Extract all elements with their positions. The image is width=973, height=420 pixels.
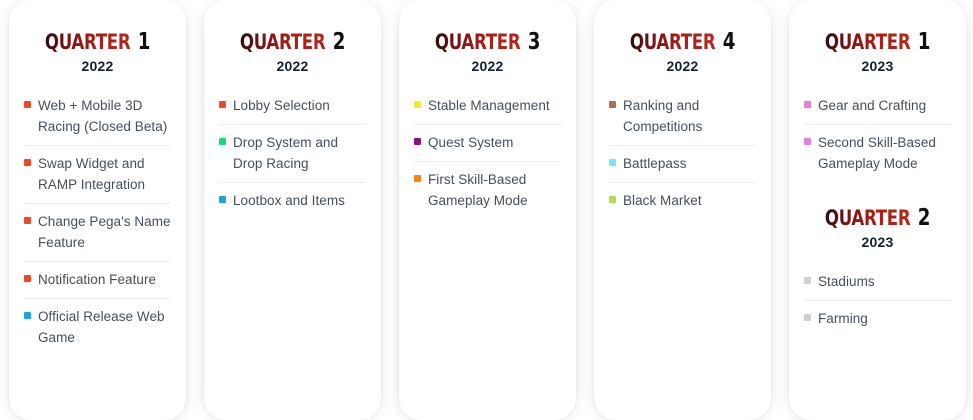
quarter-header: QUARTER 32022 [414,30,561,74]
bullet-square-icon [804,101,811,108]
quarter-section: QUARTER 32022Stable ManagementQuest Syst… [414,30,561,219]
feature-item: Change Pega's Name Feature [24,204,171,262]
bullet-square-icon [219,101,226,108]
bullet-square-icon [804,314,811,321]
quarter-header: QUARTER 42022 [609,30,756,74]
roadmap-column: QUARTER 12022Web + Mobile 3D Racing (Clo… [0,0,195,420]
quarter-section: QUARTER 22023StadiumsFarming [804,206,951,337]
feature-list: StadiumsFarming [804,264,951,337]
feature-label: Ranking and Competitions [623,95,756,137]
quarter-year: 2022 [414,58,561,74]
roadmap-column: QUARTER 42022Ranking and CompetitionsBat… [585,0,780,420]
quarter-title: QUARTER 1 [33,30,162,54]
feature-item: First Skill-Based Gameplay Mode [414,162,561,219]
quarter-number: 1 [918,29,930,55]
feature-item: Drop System and Drop Racing [219,125,366,183]
bullet-square-icon [24,312,31,319]
roadmap-board: QUARTER 12022Web + Mobile 3D Racing (Clo… [0,0,973,420]
feature-item: Official Release Web Game [24,299,171,356]
feature-item: Ranking and Competitions [609,88,756,146]
quarter-title: QUARTER 2 [813,206,942,230]
quarter-section: QUARTER 12023Gear and CraftingSecond Ski… [804,30,951,182]
feature-list: Web + Mobile 3D Racing (Closed Beta)Swap… [24,88,171,356]
feature-label: Gear and Crafting [818,95,926,116]
feature-label: Drop System and Drop Racing [233,132,366,174]
bullet-square-icon [414,138,421,145]
quarter-header: QUARTER 12023 [804,30,951,74]
quarter-section: QUARTER 42022Ranking and CompetitionsBat… [609,30,756,219]
quarter-number: 2 [333,29,345,55]
quarter-title: QUARTER 2 [228,30,357,54]
bullet-square-icon [804,277,811,284]
quarter-year: 2022 [609,58,756,74]
feature-label: Stadiums [818,271,875,292]
quarter-header: QUARTER 22023 [804,206,951,250]
feature-list: Lobby SelectionDrop System and Drop Raci… [219,88,366,219]
quarter-number: 2 [918,205,930,231]
feature-label: Swap Widget and RAMP Integration [38,153,171,195]
feature-list: Gear and CraftingSecond Skill-Based Game… [804,88,951,182]
feature-label: Stable Management [428,95,550,116]
quarter-word: QUARTER [240,30,326,54]
quarter-card: QUARTER 32022Stable ManagementQuest Syst… [399,0,576,420]
feature-item: Notification Feature [24,262,171,299]
quarter-card: QUARTER 12023Gear and CraftingSecond Ski… [789,0,966,420]
quarter-title: QUARTER 3 [423,30,552,54]
bullet-square-icon [609,196,616,203]
feature-label: First Skill-Based Gameplay Mode [428,169,561,211]
quarter-header: QUARTER 12022 [24,30,171,74]
feature-label: Black Market [623,190,702,211]
feature-item: Stable Management [414,88,561,125]
roadmap-column: QUARTER 12023Gear and CraftingSecond Ski… [780,0,973,420]
feature-label: Web + Mobile 3D Racing (Closed Beta) [38,95,171,137]
bullet-square-icon [24,101,31,108]
quarter-word: QUARTER [825,30,911,54]
feature-item: Second Skill-Based Gameplay Mode [804,125,951,182]
feature-label: Lootbox and Items [233,190,345,211]
feature-item: Battlepass [609,146,756,183]
bullet-square-icon [24,217,31,224]
quarter-title: QUARTER 1 [813,30,942,54]
quarter-year: 2023 [804,234,951,250]
bullet-square-icon [804,138,811,145]
feature-item: Lobby Selection [219,88,366,125]
quarter-word: QUARTER [630,30,716,54]
quarter-year: 2022 [219,58,366,74]
quarter-number: 4 [723,29,735,55]
feature-item: Swap Widget and RAMP Integration [24,146,171,204]
quarter-year: 2022 [24,58,171,74]
quarter-year: 2023 [804,58,951,74]
feature-label: Second Skill-Based Gameplay Mode [818,132,951,174]
feature-label: Notification Feature [38,269,156,290]
bullet-square-icon [24,159,31,166]
feature-item: Gear and Crafting [804,88,951,125]
feature-item: Stadiums [804,264,951,301]
quarter-card: QUARTER 12022Web + Mobile 3D Racing (Clo… [9,0,186,420]
feature-item: Black Market [609,183,756,219]
feature-label: Farming [818,308,868,329]
quarter-card: QUARTER 22022Lobby SelectionDrop System … [204,0,381,420]
feature-item: Lootbox and Items [219,183,366,219]
bullet-square-icon [24,275,31,282]
bullet-square-icon [414,101,421,108]
quarter-word: QUARTER [45,30,131,54]
feature-label: Battlepass [623,153,687,174]
feature-list: Ranking and CompetitionsBattlepassBlack … [609,88,756,219]
roadmap-column: QUARTER 32022Stable ManagementQuest Syst… [390,0,585,420]
bullet-square-icon [414,175,421,182]
quarter-section: QUARTER 12022Web + Mobile 3D Racing (Clo… [24,30,171,356]
quarter-card: QUARTER 42022Ranking and CompetitionsBat… [594,0,771,420]
bullet-square-icon [609,101,616,108]
quarter-header: QUARTER 22022 [219,30,366,74]
feature-label: Change Pega's Name Feature [38,211,171,253]
quarter-section: QUARTER 22022Lobby SelectionDrop System … [219,30,366,219]
feature-item: Farming [804,301,951,337]
quarter-number: 3 [528,29,540,55]
feature-item: Web + Mobile 3D Racing (Closed Beta) [24,88,171,146]
bullet-square-icon [609,159,616,166]
roadmap-column: QUARTER 22022Lobby SelectionDrop System … [195,0,390,420]
feature-list: Stable ManagementQuest SystemFirst Skill… [414,88,561,219]
bullet-square-icon [219,196,226,203]
feature-label: Official Release Web Game [38,306,171,348]
quarter-word: QUARTER [825,206,911,230]
feature-item: Quest System [414,125,561,162]
feature-label: Lobby Selection [233,95,330,116]
quarter-word: QUARTER [435,30,521,54]
bullet-square-icon [219,138,226,145]
quarter-title: QUARTER 4 [618,30,747,54]
quarter-number: 1 [138,29,150,55]
feature-label: Quest System [428,132,513,153]
